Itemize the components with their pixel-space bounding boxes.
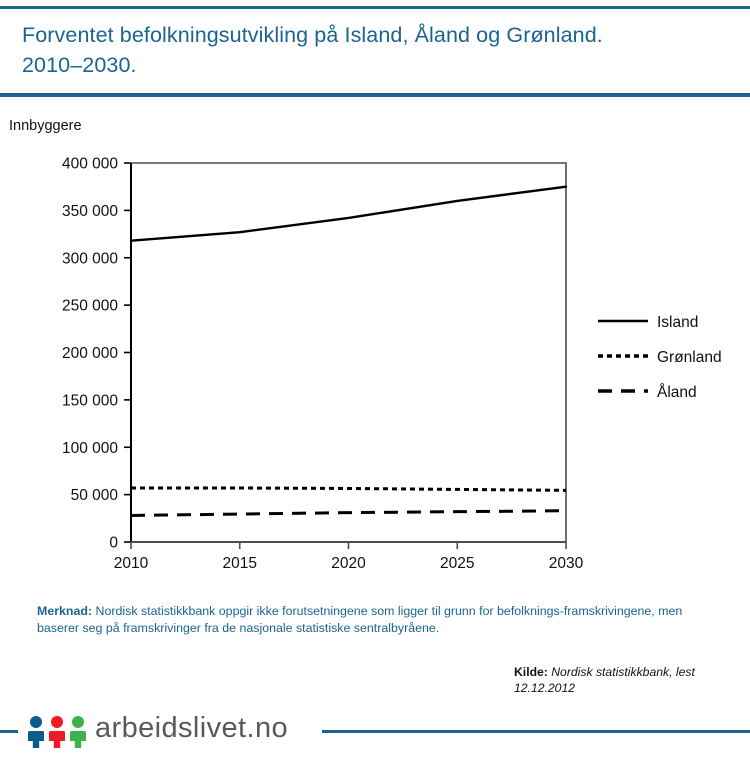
line-chart: 050 000100 000150 000200 000250 000300 0… [0, 140, 750, 580]
y-tick-label: 300 000 [62, 250, 118, 267]
chart-container: 050 000100 000150 000200 000250 000300 0… [0, 140, 750, 580]
footer-wordmark: arbeidslivet.no [95, 712, 288, 745]
page-title-line-1: Forventet befolkningsutvikling på Island… [22, 20, 728, 50]
header-top-rule [0, 6, 750, 9]
three-people-icon [26, 714, 88, 750]
series-line-åland [131, 511, 566, 516]
logo-person-3-icon [72, 716, 84, 728]
source-label: Kilde: [514, 665, 548, 679]
legend-label-åland: Åland [657, 384, 697, 401]
y-tick-label: 100 000 [62, 440, 118, 457]
series-lines [131, 187, 566, 516]
y-tick-label: 250 000 [62, 298, 118, 315]
legend-label-grønland: Grønland [657, 349, 722, 366]
footer: arbeidslivet.no [0, 706, 750, 758]
y-tick-label: 200 000 [62, 345, 118, 362]
note-body: Nordisk statistikkbank oppgir ikke forut… [37, 604, 682, 635]
logo-person-1-icon-body [28, 731, 44, 748]
chart-legend: IslandGrønlandÅland [598, 314, 722, 401]
x-tick-label: 2015 [223, 555, 257, 572]
footer-right-line [322, 730, 750, 733]
x-axis-ticks: 20102015202020252030 [114, 542, 584, 572]
y-axis-title: Innbyggere [9, 118, 82, 134]
footer-left-dash [0, 730, 18, 733]
x-tick-label: 2030 [549, 555, 584, 572]
page-root: Forventet befolkningsutvikling på Island… [0, 0, 750, 758]
plot-border [131, 163, 566, 542]
header-bottom-rule [0, 93, 750, 97]
source-text: Kilde: Nordisk statistikkbank, lest 12.1… [514, 664, 744, 696]
x-tick-label: 2020 [331, 555, 366, 572]
y-tick-label: 150 000 [62, 392, 118, 409]
logo-people-icon [26, 714, 88, 750]
x-tick-label: 2025 [440, 555, 474, 572]
logo-person-2-icon [51, 716, 63, 728]
legend-label-island: Island [657, 314, 698, 331]
y-tick-label: 50 000 [71, 487, 119, 504]
y-tick-label: 0 [109, 535, 118, 552]
y-tick-label: 350 000 [62, 203, 118, 220]
page-title-line-2: 2010–2030. [22, 50, 728, 80]
logo-person-1-icon [30, 716, 42, 728]
y-tick-label: 400 000 [62, 156, 118, 173]
series-line-grønland [131, 488, 566, 490]
page-title: Forventet befolkningsutvikling på Island… [22, 20, 728, 80]
y-axis-ticks: 050 000100 000150 000200 000250 000300 0… [62, 156, 131, 552]
x-tick-label: 2010 [114, 555, 149, 572]
logo-people-shapes [28, 716, 86, 748]
note-text: Merknad: Nordisk statistikkbank oppgir i… [37, 603, 697, 637]
logo-person-3-icon-body [70, 731, 86, 748]
plot-frame [131, 163, 566, 542]
logo-person-2-icon-body [49, 731, 65, 748]
series-line-island [131, 187, 566, 241]
note-label: Merknad: [37, 604, 92, 618]
